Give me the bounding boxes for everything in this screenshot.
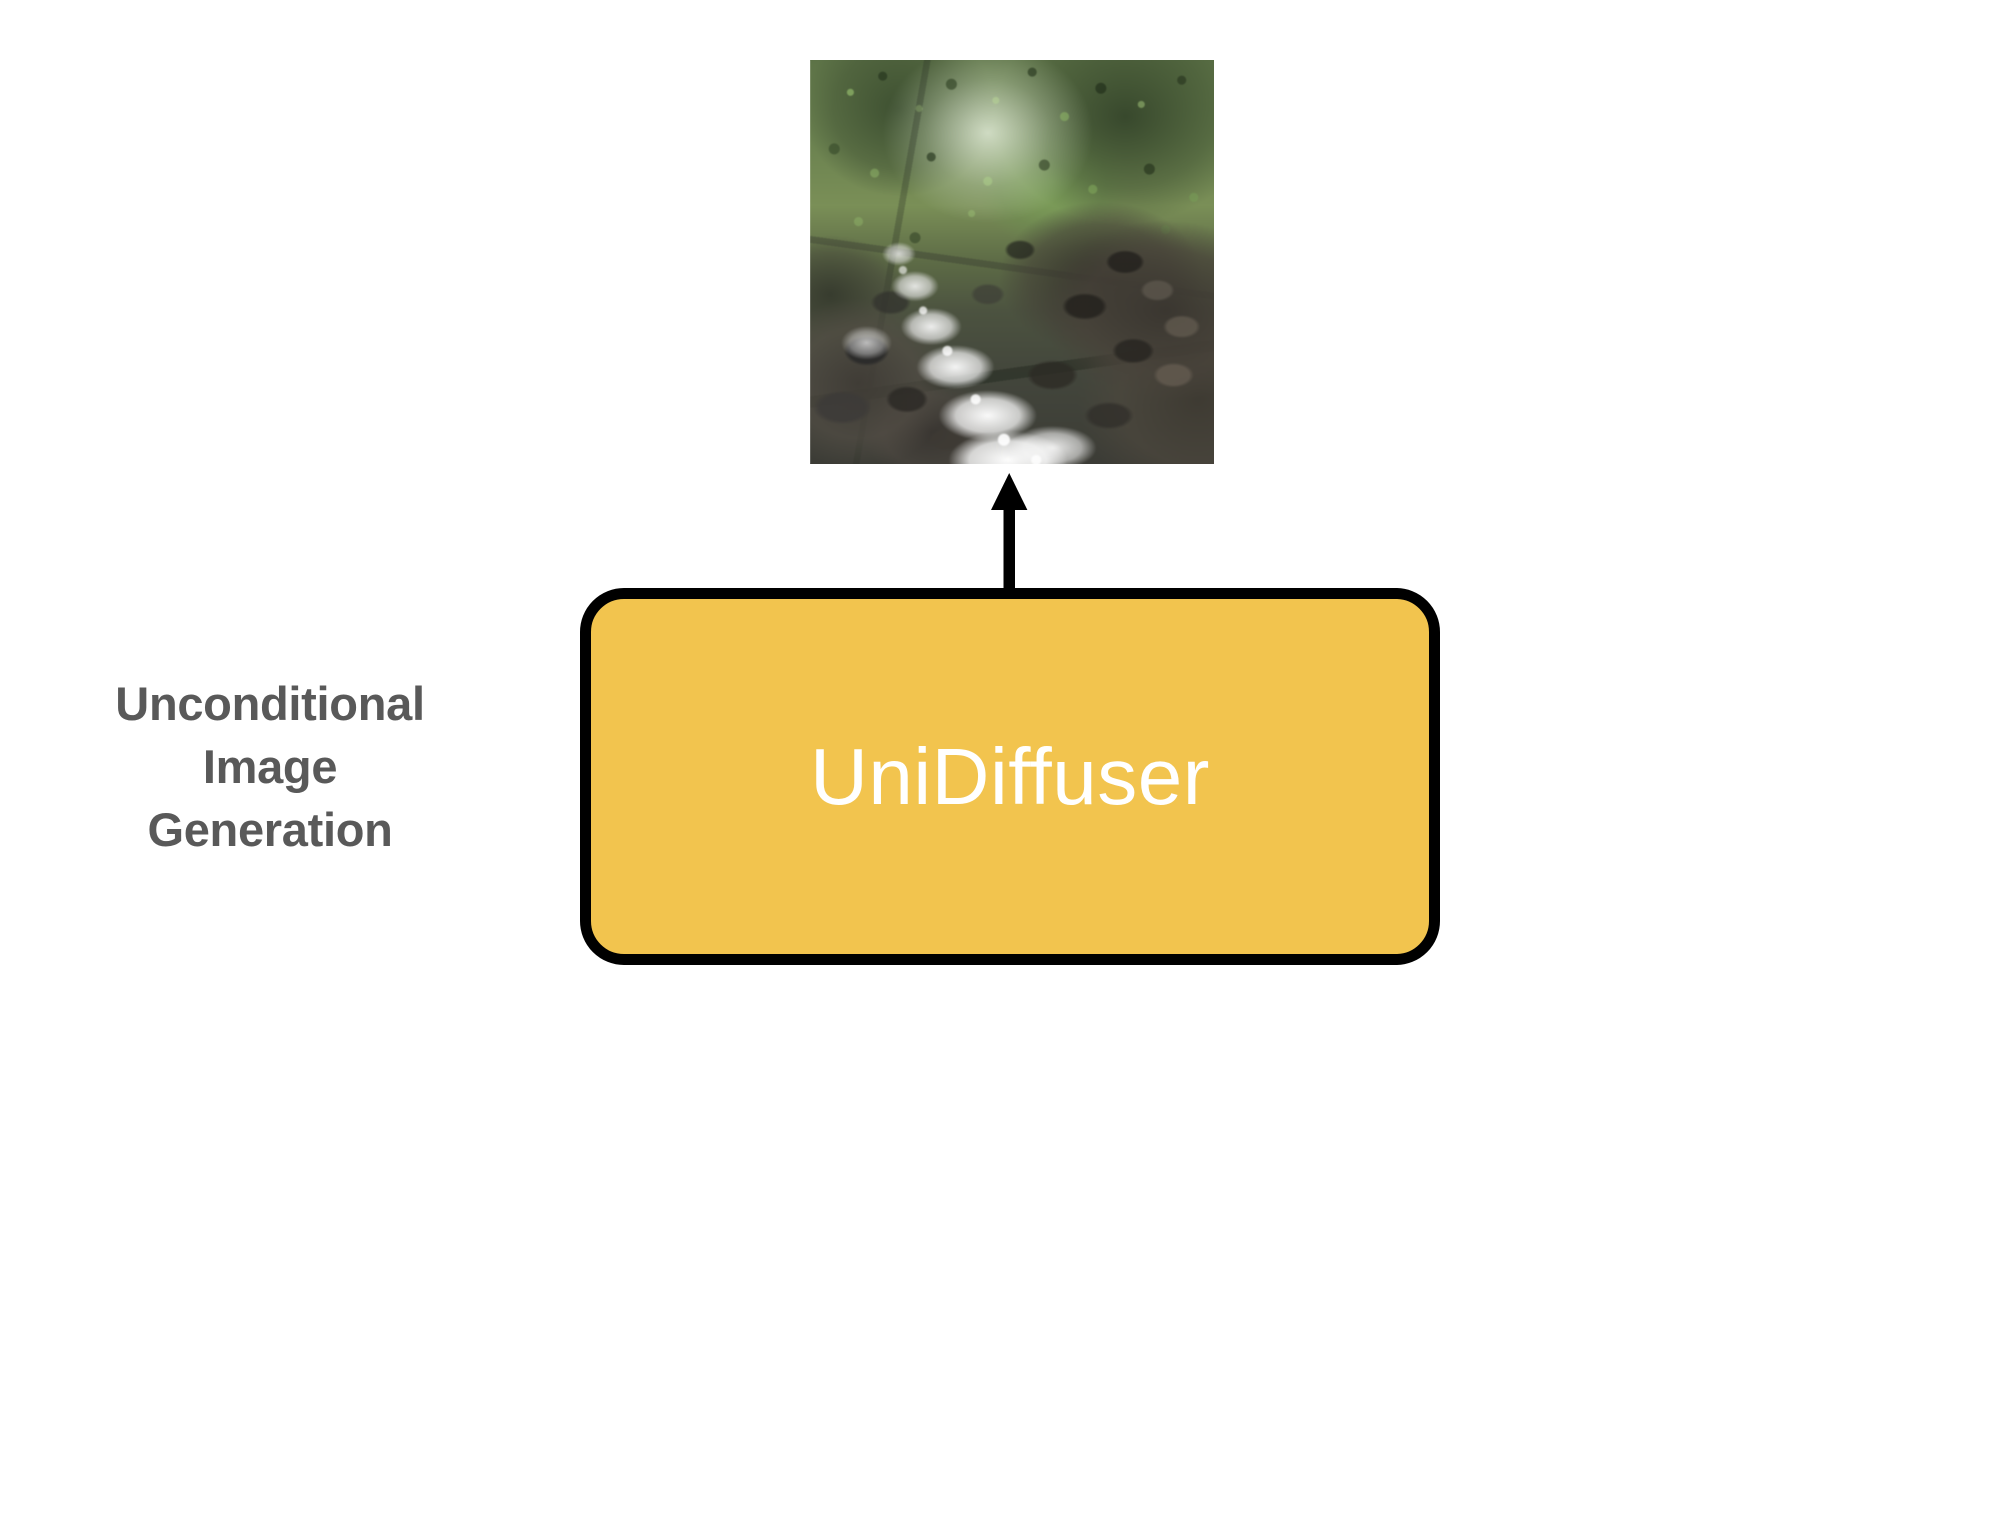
up-arrow-icon <box>955 465 1065 600</box>
up-arrow-svg <box>955 465 1065 600</box>
task-label-line-3: Generation <box>60 798 480 861</box>
task-label-line-1: Unconditional <box>60 672 480 735</box>
unidiffuser-model-label: UniDiffuser <box>810 737 1210 817</box>
task-label: Unconditional Image Generation <box>60 672 480 861</box>
diagram-canvas: UniDiffuser Unconditional Image Generati… <box>0 0 1992 1516</box>
image-soften-layer <box>810 60 1214 464</box>
unidiffuser-model-box[interactable]: UniDiffuser <box>580 588 1440 965</box>
task-label-line-2: Image <box>60 735 480 798</box>
generated-image <box>810 60 1214 464</box>
